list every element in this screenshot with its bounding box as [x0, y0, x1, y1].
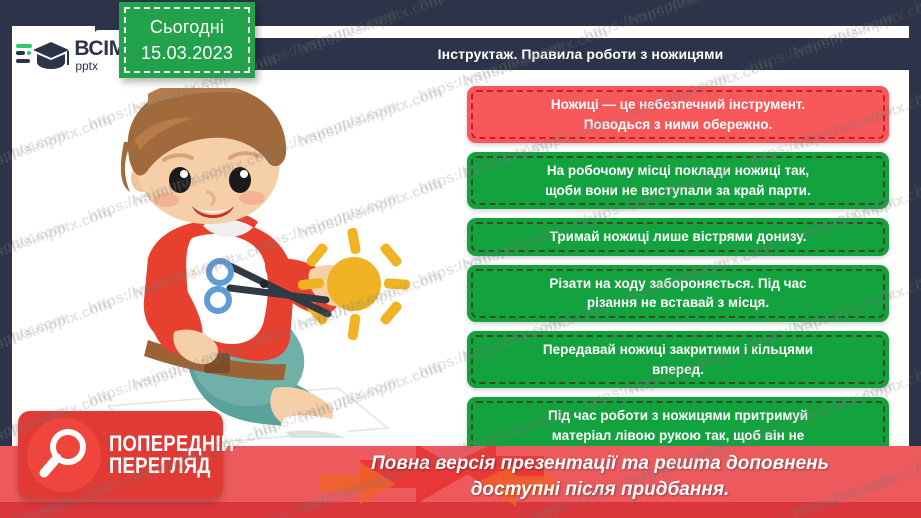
rule-line: матеріал лівою рукою так, щоб він не	[483, 426, 873, 446]
magnifier-icon	[27, 418, 101, 492]
rule-line: Передавай ножиці закритими і кільцями	[483, 340, 873, 360]
preview-badge-line-1: ПОПЕРЕДНІЙ	[109, 433, 234, 455]
slide-canvas: ВСІМ pptx Сьогодні 15.03.2023 Інструктаж…	[0, 0, 921, 518]
rule-line: Різати на ходу забороняється. Під час	[483, 274, 873, 294]
safety-rules-list: Ножиці — це небезпечний інструмент. Пово…	[467, 86, 889, 483]
today-date: 15.03.2023	[141, 42, 233, 65]
illustration-boy-cutting-paper-sun-with-scissors	[88, 88, 468, 458]
rule-line: Поводься з ними обережно.	[483, 115, 873, 135]
preview-badge[interactable]: ПОПЕРЕДНІЙ ПЕРЕГЛЯД	[18, 411, 223, 499]
slide-title-bar: Інструктаж. Правила роботи з ножицями	[252, 38, 909, 70]
head-group	[121, 88, 286, 224]
rule-line: вперед.	[483, 360, 873, 380]
rule-item-3: Тримай ножиці лише вістрями донизу.	[467, 218, 889, 256]
graduation-cap-icon	[31, 38, 71, 72]
rule-item-5: Передавай ножиці закритими і кільцями вп…	[467, 331, 889, 388]
rule-item-1: Ножиці — це небезпечний інструмент. Пово…	[467, 86, 889, 143]
banner-message: Повна версія презентації та решта доповн…	[290, 451, 910, 502]
banner-line-2: доступні після придбання.	[290, 477, 910, 503]
logo-motion-dashes-icon	[16, 40, 30, 70]
rule-line: Ножиці — це небезпечний інструмент.	[483, 95, 873, 115]
rule-item-4: Різати на ходу забороняється. Під час рі…	[467, 265, 889, 322]
page-title: Інструктаж. Правила роботи з ножицями	[438, 46, 724, 62]
vsimpptx-logo: ВСІМ pptx	[16, 32, 126, 78]
rule-line: На робочому місці поклади ножиці так,	[483, 161, 873, 181]
rule-line: Під час роботи з ножицями притримуй	[483, 406, 873, 426]
rule-line: щоби вони не виступали за край парти.	[483, 181, 873, 201]
today-label: Сьогодні	[150, 16, 224, 39]
rule-item-2: На робочому місці поклади ножиці так, що…	[467, 152, 889, 209]
preview-badge-label: ПОПЕРЕДНІЙ ПЕРЕГЛЯД	[109, 433, 258, 478]
preview-badge-line-2: ПЕРЕГЛЯД	[109, 455, 234, 477]
paper-sun-icon	[298, 227, 411, 340]
banner-line-1: Повна версія презентації та решта доповн…	[290, 451, 910, 477]
rule-line: Тримай ножиці лише вістрями донизу.	[483, 227, 873, 247]
rule-line: різання не вставай з місця.	[483, 293, 873, 313]
today-date-tag: Сьогодні 15.03.2023	[119, 2, 255, 78]
